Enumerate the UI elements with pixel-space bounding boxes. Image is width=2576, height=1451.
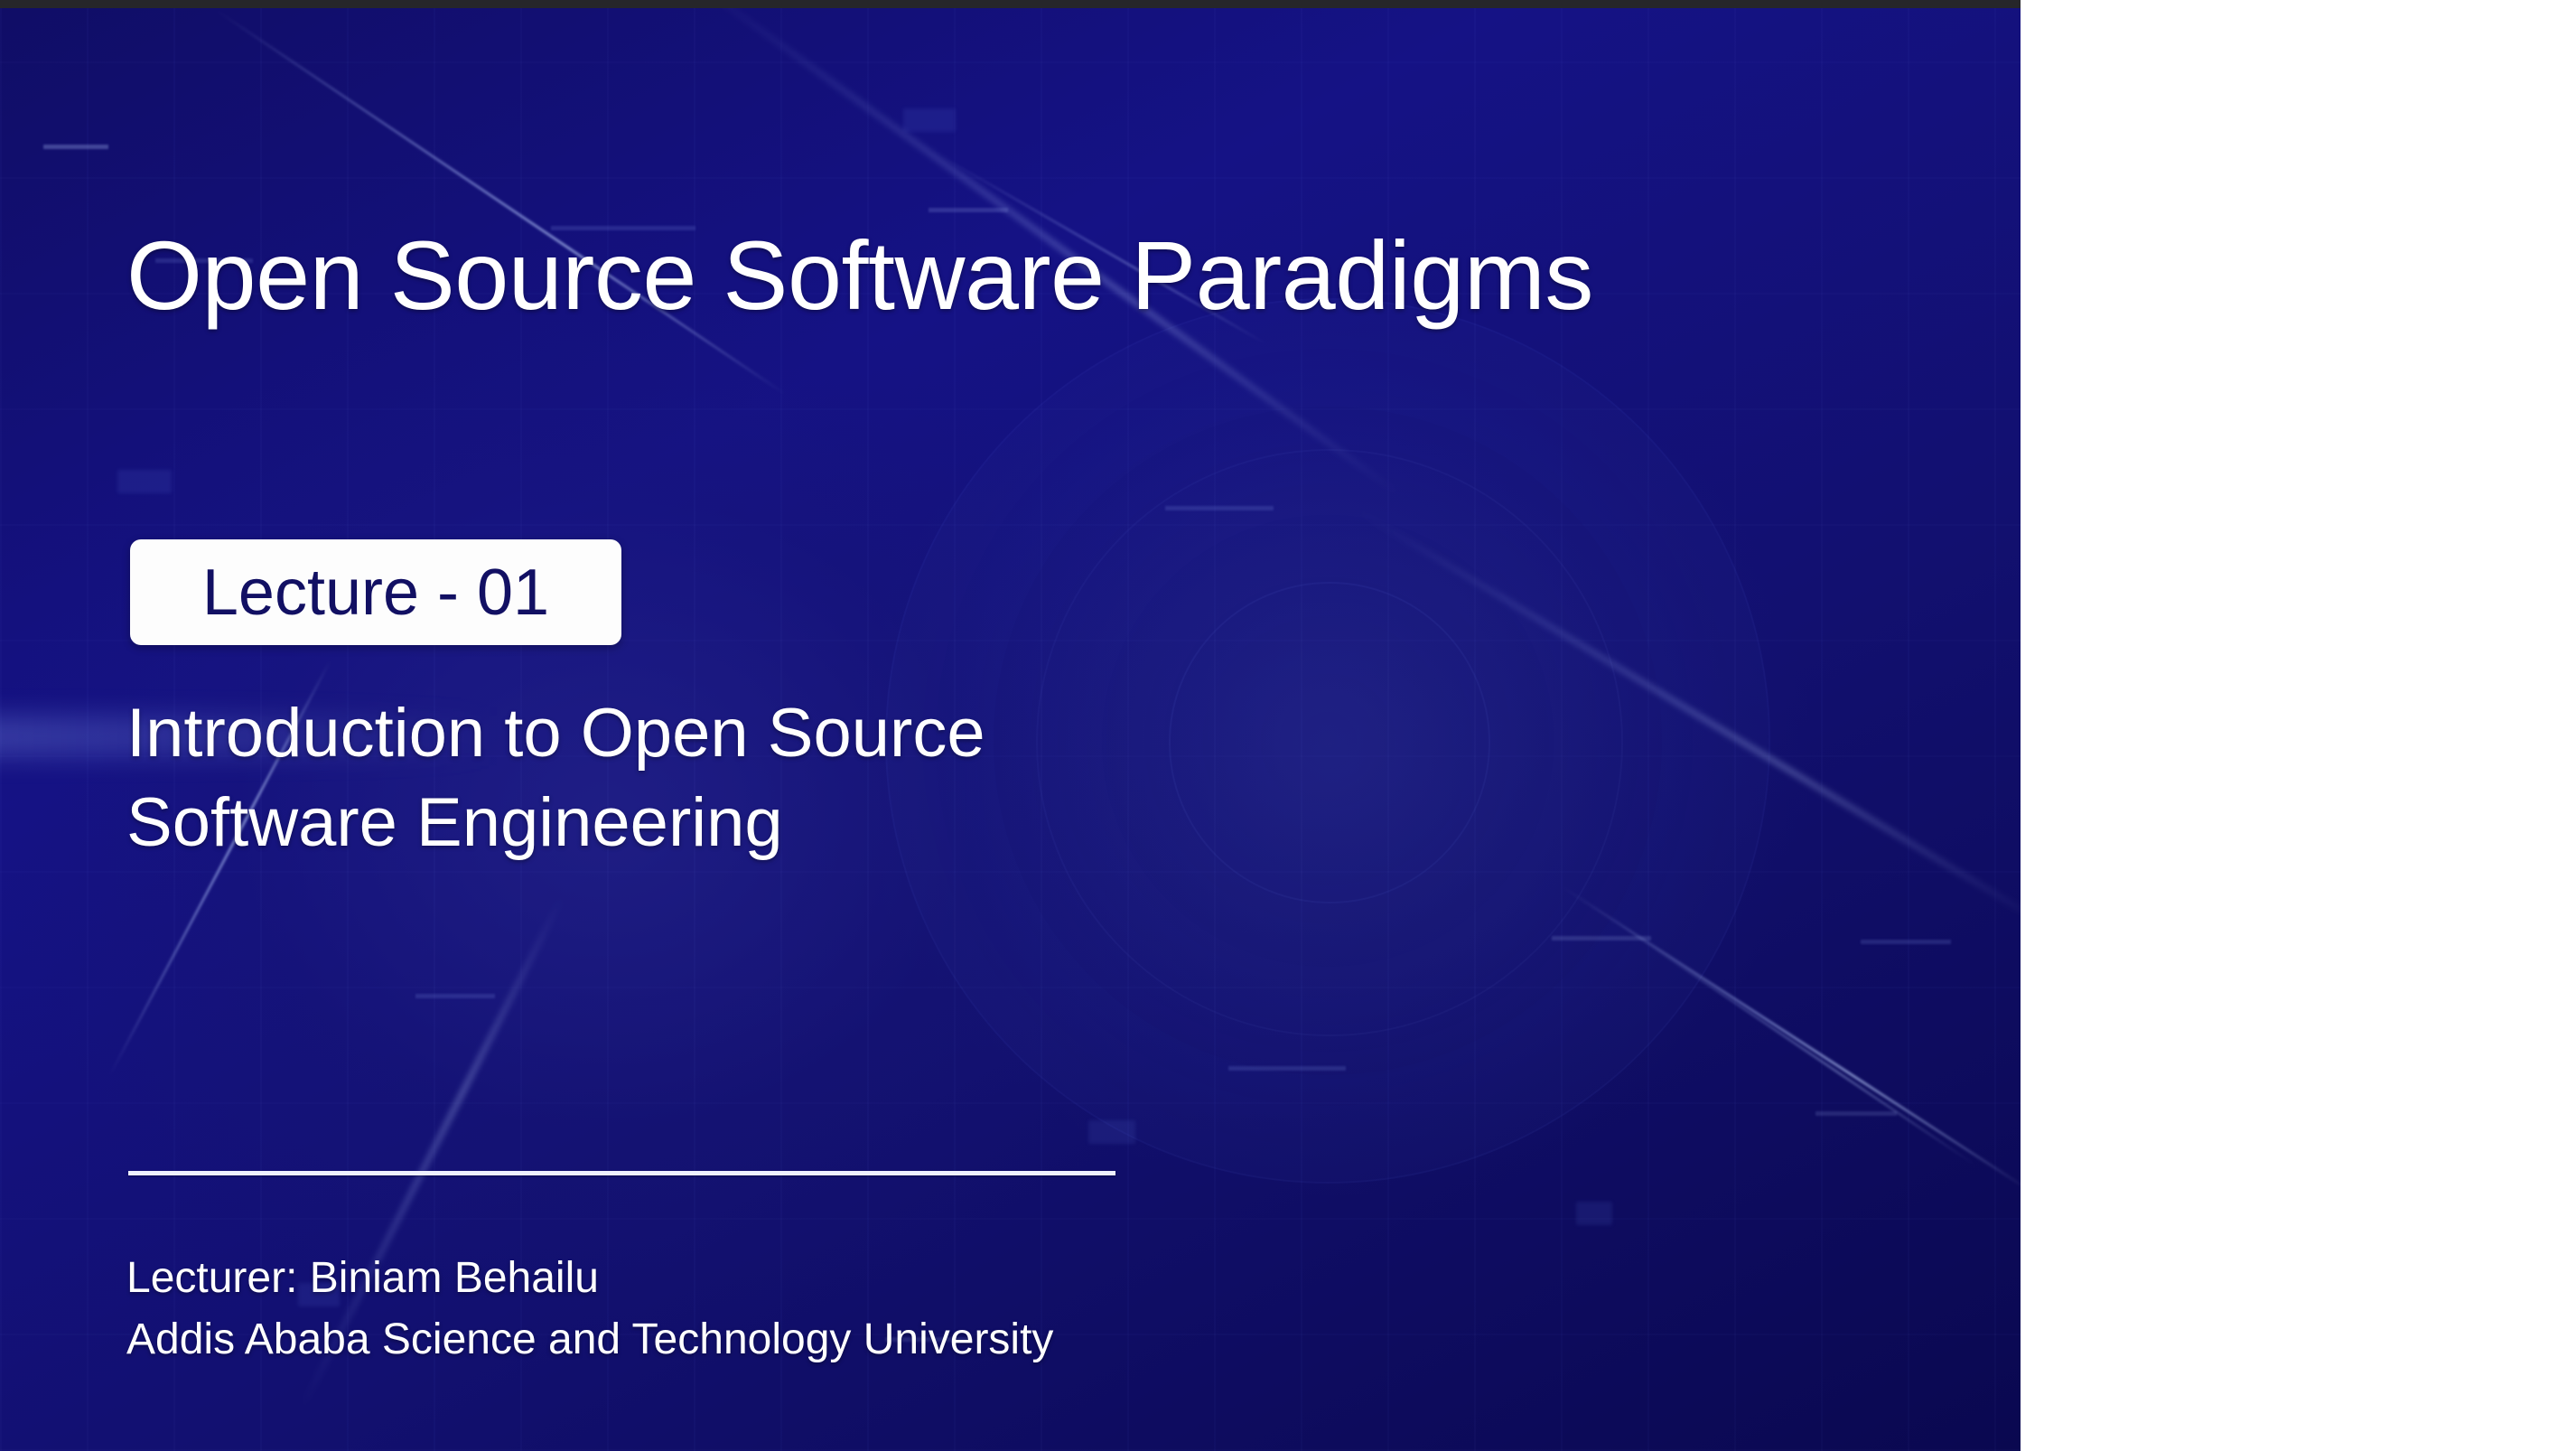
presenter-panel [2021,0,2576,1451]
slide-top-letterbox-strip [0,0,2021,8]
lecture-number-badge: Lecture - 01 [130,539,621,645]
footer-lecturer-line: Lecturer: Biniam Behailu [126,1248,1053,1309]
slide-subtitle: Introduction to Open Source Software Eng… [126,689,985,868]
footer-institution-line: Addis Ababa Science and Technology Unive… [126,1309,1053,1371]
slide-title: Open Source Software Paradigms [126,224,1593,326]
slide-divider-rule [128,1171,1115,1175]
screen: Open Source Software Paradigms Lecture -… [0,0,2576,1451]
presentation-slide[interactable]: Open Source Software Paradigms Lecture -… [0,0,2021,1451]
slide-footer: Lecturer: Biniam Behailu Addis Ababa Sci… [126,1248,1053,1371]
lecture-number-badge-label: Lecture - 01 [202,560,549,625]
slide-content: Open Source Software Paradigms Lecture -… [0,0,2021,1451]
